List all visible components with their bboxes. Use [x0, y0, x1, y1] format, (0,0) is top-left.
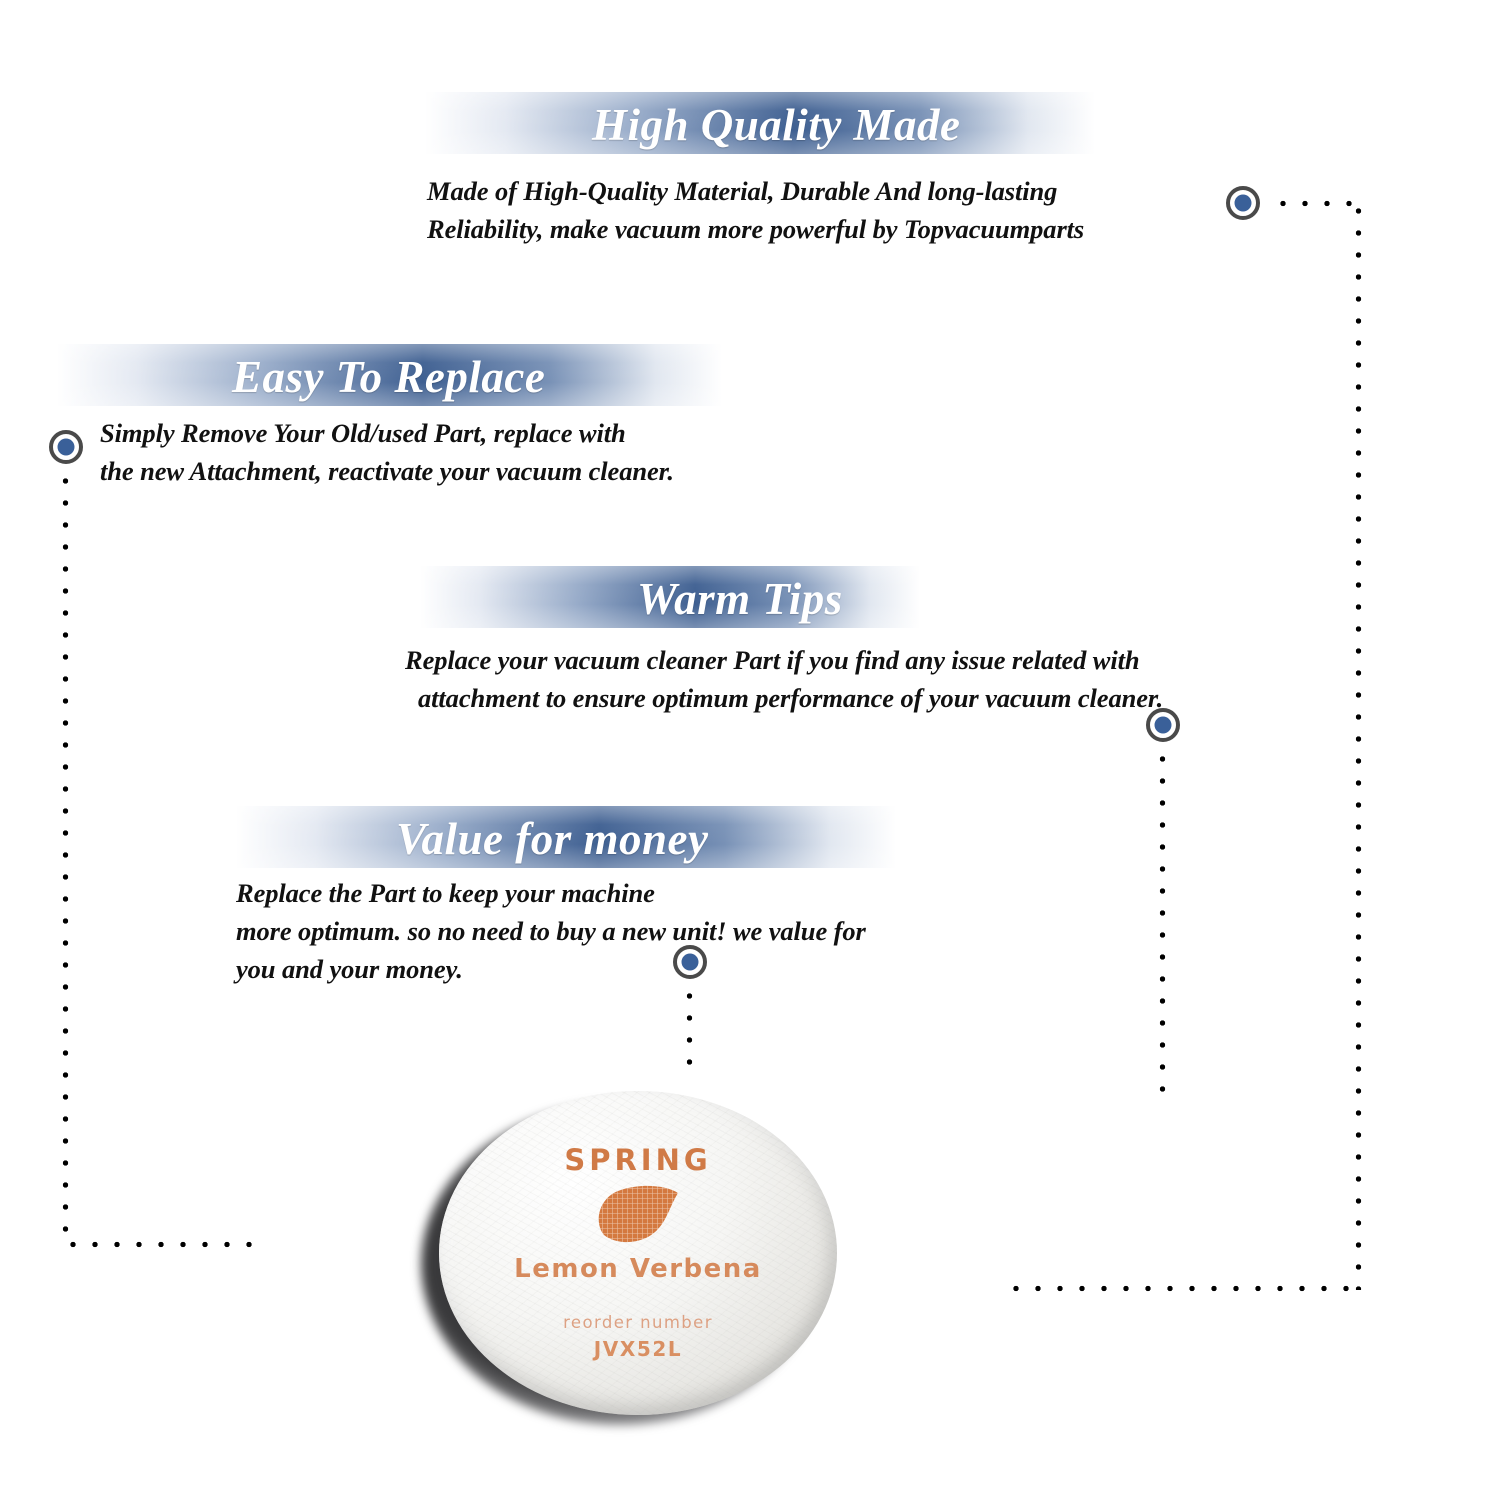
section-title-easy-to-replace: Easy To Replace — [232, 351, 545, 403]
product-fiber-texture — [439, 1091, 837, 1415]
connector-right-vertical — [1355, 200, 1362, 1290]
connector-value-vertical — [686, 985, 693, 1073]
section-title-high-quality-made: High Quality Made — [592, 99, 961, 151]
connector-bottom-right-horizontal — [1005, 1285, 1362, 1292]
section-body-high-quality-made-line-2: Reliability, make vacuum more powerful b… — [427, 209, 1084, 249]
connector-top-right-horizontal — [1272, 200, 1364, 207]
product-reorder-number: JVX52L — [439, 1337, 837, 1361]
section-title-warm-tips: Warm Tips — [637, 573, 843, 625]
marker-value-for-money — [673, 945, 707, 979]
section-body-easy-to-replace-line-2: the new Attachment, reactivate your vacu… — [100, 451, 674, 491]
product-filter-disc: SPRING Lemon Verbena reorder number JVX5… — [439, 1091, 837, 1415]
infographic-page: High Quality Made Made of High-Quality M… — [0, 0, 1500, 1500]
product-scent-label: Lemon Verbena — [439, 1254, 837, 1284]
section-body-value-for-money-line-3: you and your money. — [236, 949, 463, 989]
section-body-high-quality-made-line-1: Made of High-Quality Material, Durable A… — [427, 171, 1057, 211]
section-body-warm-tips-line-2: attachment to ensure optimum performance… — [418, 678, 1163, 718]
lemon-icon — [439, 1183, 837, 1245]
section-title-value-for-money: Value for money — [396, 813, 709, 865]
product-image: SPRING Lemon Verbena reorder number JVX5… — [415, 1085, 840, 1430]
connector-warm-tips-vertical — [1159, 748, 1166, 1100]
marker-easy-to-replace — [49, 430, 83, 464]
product-brand-label: SPRING — [439, 1143, 837, 1177]
connector-left-vertical — [62, 470, 69, 1247]
section-body-value-for-money-line-2: more optimum. so no need to buy a new un… — [236, 911, 866, 951]
connector-bottom-left-horizontal — [62, 1241, 267, 1248]
section-body-value-for-money-line-1: Replace the Part to keep your machine — [236, 873, 655, 913]
section-body-easy-to-replace-line-1: Simply Remove Your Old/used Part, replac… — [100, 413, 626, 453]
section-body-warm-tips-line-1: Replace your vacuum cleaner Part if you … — [405, 640, 1140, 680]
marker-high-quality-made — [1226, 186, 1260, 220]
product-reorder-label: reorder number — [439, 1313, 837, 1332]
marker-warm-tips — [1146, 708, 1180, 742]
